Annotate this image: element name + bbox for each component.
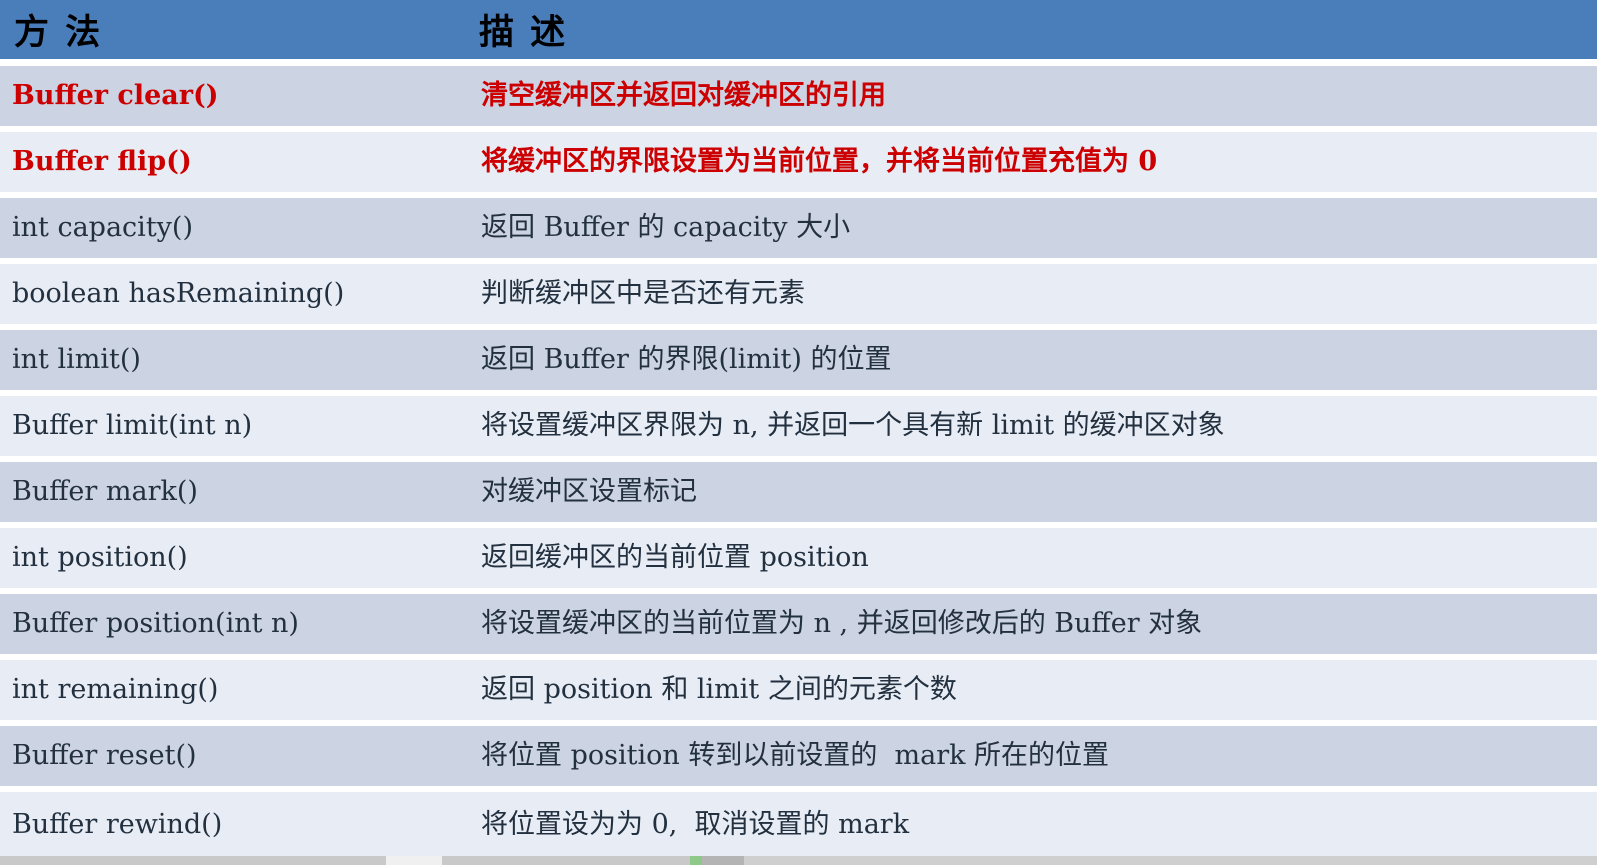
cell-description: 将位置设为为 0, 取消设置的 mark: [465, 792, 1597, 858]
method-description: 返回 Buffer 的界限(limit) 的位置: [477, 344, 1597, 375]
method-signature: int remaining(): [12, 674, 465, 705]
method-description: 返回缓冲区的当前位置 position: [477, 542, 1597, 573]
table-row: Buffer clear()清空缓冲区并返回对缓冲区的引用: [0, 66, 1597, 132]
table-row: int capacity()返回 Buffer 的 capacity 大小: [0, 198, 1597, 264]
cell-description: 对缓冲区设置标记: [465, 462, 1597, 528]
buffer-method-table: 方 法 描 述 Buffer clear()清空缓冲区并返回对缓冲区的引用Buf…: [0, 0, 1597, 858]
cell-method: Buffer flip(): [0, 132, 465, 198]
progress-segment-2: [386, 856, 442, 865]
progress-segment-5: [744, 856, 1597, 865]
method-description: 返回 position 和 limit 之间的元素个数: [477, 674, 1597, 705]
method-signature: Buffer limit(int n): [12, 410, 465, 441]
table-body: Buffer clear()清空缓冲区并返回对缓冲区的引用Buffer flip…: [0, 66, 1597, 858]
table-row: int position()返回缓冲区的当前位置 position: [0, 528, 1597, 594]
header-cell-method: 方 法: [0, 0, 465, 66]
table-row: Buffer flip()将缓冲区的界限设置为当前位置，并将当前位置充值为 0: [0, 132, 1597, 198]
method-description: 返回 Buffer 的 capacity 大小: [477, 212, 1597, 243]
table-row: int limit()返回 Buffer 的界限(limit) 的位置: [0, 330, 1597, 396]
table-row: Buffer reset()将位置 position 转到以前设置的 mark …: [0, 726, 1597, 792]
table-row: Buffer mark()对缓冲区设置标记: [0, 462, 1597, 528]
method-description: 将设置缓冲区界限为 n, 并返回一个具有新 limit 的缓冲区对象: [477, 410, 1597, 441]
cell-description: 返回 Buffer 的界限(limit) 的位置: [465, 330, 1597, 396]
table-row: Buffer rewind()将位置设为为 0, 取消设置的 mark: [0, 792, 1597, 858]
method-description: 将设置缓冲区的当前位置为 n , 并返回修改后的 Buffer 对象: [477, 608, 1597, 639]
cell-description: 将位置 position 转到以前设置的 mark 所在的位置: [465, 726, 1597, 792]
method-signature: boolean hasRemaining(): [12, 278, 465, 309]
cell-method: boolean hasRemaining(): [0, 264, 465, 330]
method-description: 对缓冲区设置标记: [477, 476, 1597, 507]
method-description: 清空缓冲区并返回对缓冲区的引用: [477, 80, 1597, 111]
method-description: 将缓冲区的界限设置为当前位置，并将当前位置充值为 0: [477, 146, 1597, 177]
cell-method: Buffer position(int n): [0, 594, 465, 660]
cell-method: int limit(): [0, 330, 465, 396]
method-signature: Buffer mark(): [12, 476, 465, 507]
slide-canvas: 方 法 描 述 Buffer clear()清空缓冲区并返回对缓冲区的引用Buf…: [0, 0, 1597, 865]
table-row: int remaining()返回 position 和 limit 之间的元素…: [0, 660, 1597, 726]
method-signature: Buffer clear(): [12, 80, 465, 111]
table-header: 方 法 描 述: [0, 0, 1597, 66]
cell-description: 将设置缓冲区界限为 n, 并返回一个具有新 limit 的缓冲区对象: [465, 396, 1597, 462]
progress-segment-4: [702, 856, 744, 865]
cell-description: 将设置缓冲区的当前位置为 n , 并返回修改后的 Buffer 对象: [465, 594, 1597, 660]
cell-method: Buffer limit(int n): [0, 396, 465, 462]
method-signature: int limit(): [12, 344, 465, 375]
table-row: boolean hasRemaining()判断缓冲区中是否还有元素: [0, 264, 1597, 330]
table-row: Buffer position(int n)将设置缓冲区的当前位置为 n , 并…: [0, 594, 1597, 660]
cell-description: 返回 Buffer 的 capacity 大小: [465, 198, 1597, 264]
header-row: 方 法 描 述: [0, 0, 1597, 66]
cell-description: 清空缓冲区并返回对缓冲区的引用: [465, 66, 1597, 132]
cell-method: Buffer rewind(): [0, 792, 465, 858]
method-signature: int capacity(): [12, 212, 465, 243]
cell-method: int remaining(): [0, 660, 465, 726]
cell-description: 判断缓冲区中是否还有元素: [465, 264, 1597, 330]
cell-description: 返回 position 和 limit 之间的元素个数: [465, 660, 1597, 726]
method-description: 将位置 position 转到以前设置的 mark 所在的位置: [477, 740, 1597, 771]
method-signature: Buffer flip(): [12, 146, 465, 177]
method-signature: Buffer reset(): [12, 740, 465, 771]
cell-method: Buffer reset(): [0, 726, 465, 792]
cell-method: int capacity(): [0, 198, 465, 264]
table-row: Buffer limit(int n)将设置缓冲区界限为 n, 并返回一个具有新…: [0, 396, 1597, 462]
progress-marker-current[interactable]: [690, 856, 702, 865]
method-description: 将位置设为为 0, 取消设置的 mark: [477, 809, 1597, 840]
bottom-progress-strip[interactable]: [0, 856, 1597, 865]
method-signature: int position(): [12, 542, 465, 573]
cell-method: Buffer clear(): [0, 66, 465, 132]
method-signature: Buffer rewind(): [12, 809, 465, 840]
header-cell-description: 描 述: [465, 0, 1597, 66]
cell-description: 返回缓冲区的当前位置 position: [465, 528, 1597, 594]
method-description: 判断缓冲区中是否还有元素: [477, 278, 1597, 309]
cell-description: 将缓冲区的界限设置为当前位置，并将当前位置充值为 0: [465, 132, 1597, 198]
progress-segment-1: [0, 856, 386, 865]
cell-method: Buffer mark(): [0, 462, 465, 528]
method-signature: Buffer position(int n): [12, 608, 465, 639]
cell-method: int position(): [0, 528, 465, 594]
progress-segment-3: [442, 856, 690, 865]
